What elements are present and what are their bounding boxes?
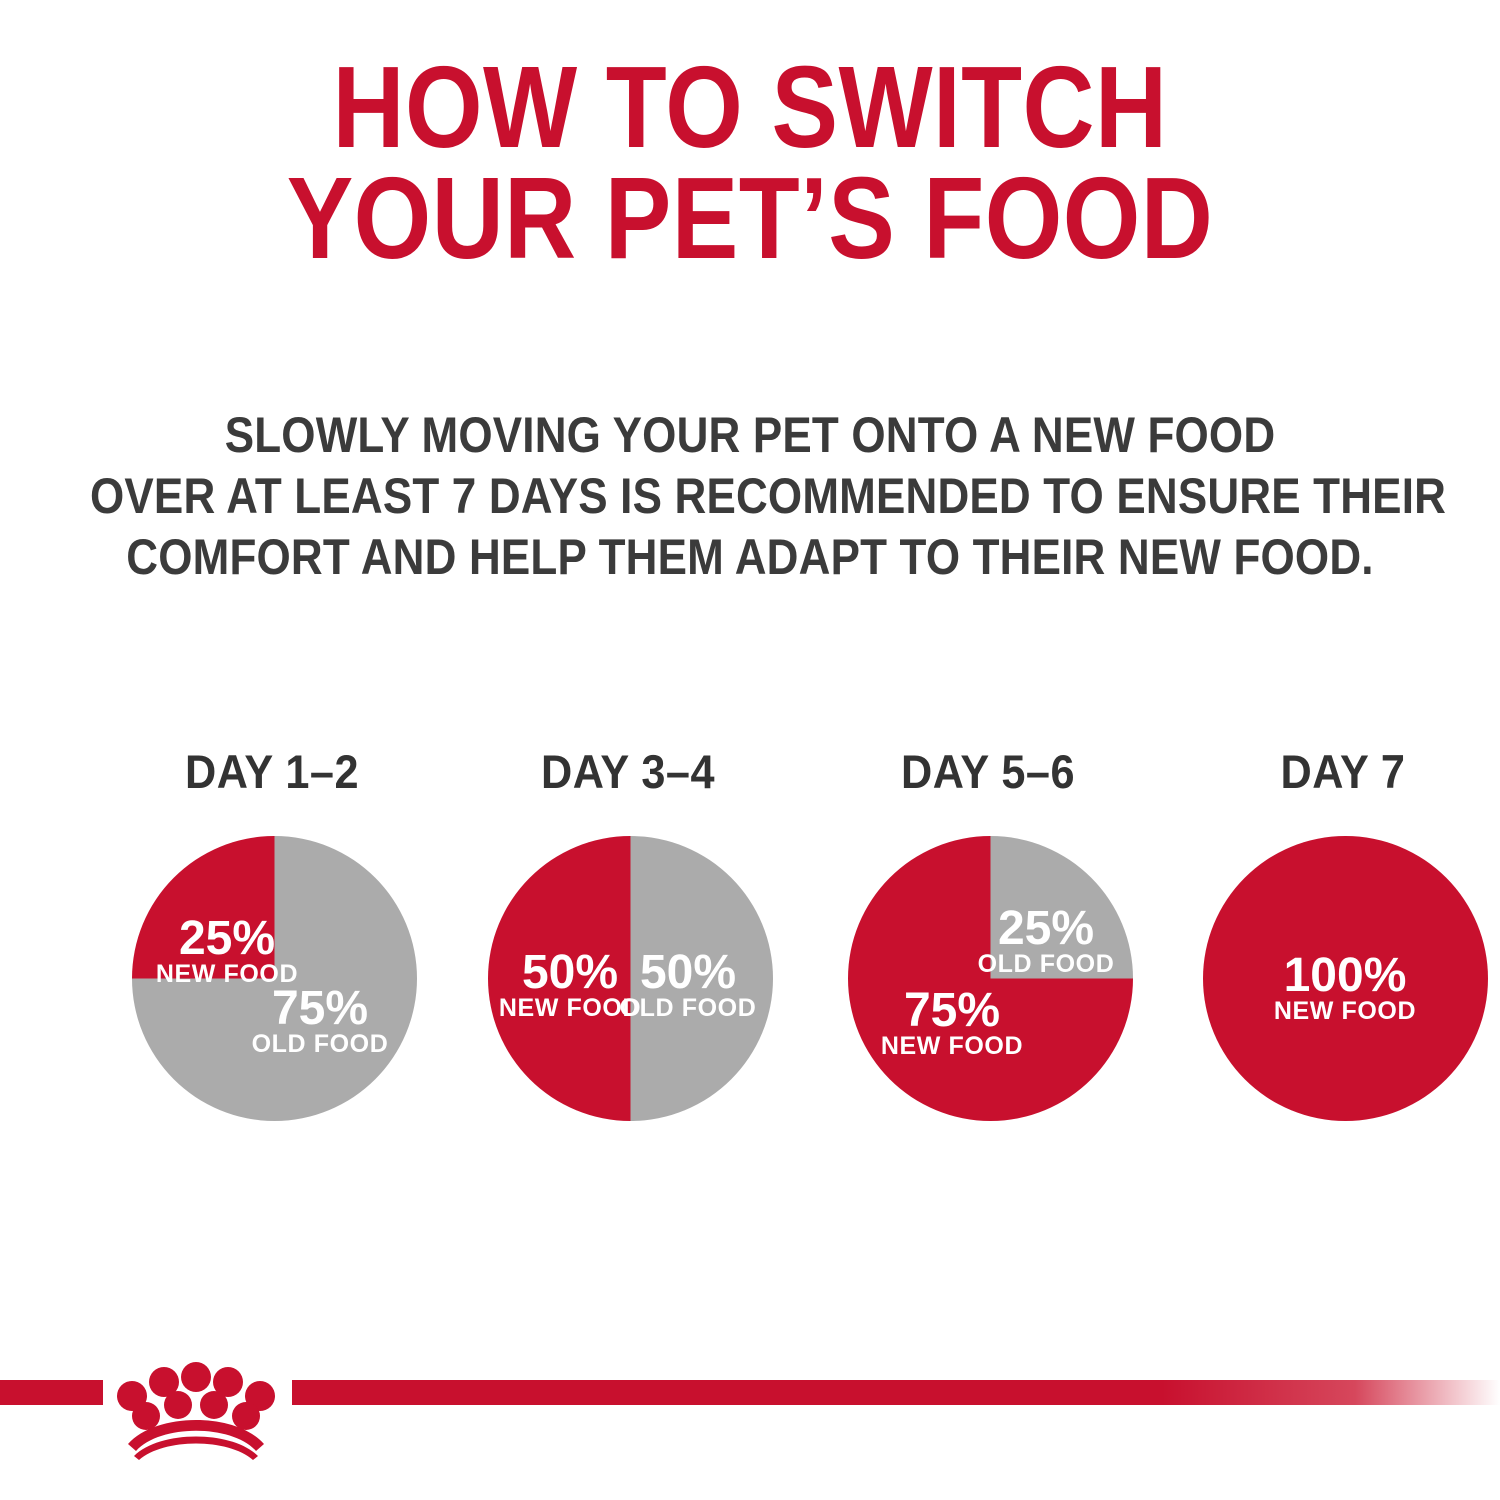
pie-chart: 25%NEW FOOD75%OLD FOOD	[132, 836, 417, 1121]
pie-slice-percentage: 50%	[522, 946, 618, 999]
brand-footer	[0, 1352, 1500, 1462]
pie-chart-day-label: DAY 5–6	[850, 748, 1126, 795]
pie-slice-percentage: 25%	[998, 902, 1094, 955]
pie-chart-cell: DAY 5–625%OLD FOOD75%NEW FOOD	[838, 748, 1138, 1148]
pie-slice-percentage: 50%	[640, 946, 736, 999]
page-title: HOW TO SWITCH YOUR PET’S FOOD	[105, 52, 1395, 275]
page-title-line-2: YOUR PET’S FOOD	[105, 163, 1395, 274]
page-subtitle-line-2: OVER AT LEAST 7 DAYS IS RECOMMENDED TO E…	[90, 466, 1410, 527]
pie-slice-category: NEW FOOD	[881, 1032, 1023, 1060]
pie-chart-cell: DAY 1–225%NEW FOOD75%OLD FOOD	[122, 748, 422, 1148]
page-subtitle-line-3: COMFORT AND HELP THEM ADAPT TO THEIR NEW…	[90, 527, 1410, 588]
pie-chart-day-label: DAY 1–2	[134, 748, 410, 795]
pie-slice-category: NEW FOOD	[1274, 997, 1416, 1025]
pie-chart: 50%NEW FOOD50%OLD FOOD	[488, 836, 773, 1121]
pie-chart-day-label: DAY 3–4	[490, 748, 766, 795]
pie-chart-row: DAY 1–225%NEW FOOD75%OLD FOODDAY 3–450%N…	[0, 748, 1500, 1148]
pie-chart: 25%OLD FOOD75%NEW FOOD	[848, 836, 1133, 1121]
footer-rule-left	[0, 1380, 103, 1405]
footer-rule-right	[292, 1380, 1500, 1405]
royal-canin-crown-icon	[108, 1352, 284, 1460]
pie-chart: 100%NEW FOOD	[1203, 836, 1488, 1121]
pie-slice-category: OLD FOOD	[252, 1030, 389, 1058]
pie-chart-cell: DAY 7100%NEW FOOD	[1193, 748, 1493, 1148]
pie-chart-day-label: DAY 7	[1205, 748, 1481, 795]
pie-slice-percentage: 25%	[179, 912, 275, 965]
page-subtitle-line-1: SLOWLY MOVING YOUR PET ONTO A NEW FOOD	[90, 405, 1410, 466]
page-title-line-1: HOW TO SWITCH	[105, 52, 1395, 163]
pie-slice-category: OLD FOOD	[978, 950, 1115, 978]
pie-slice-percentage: 75%	[904, 984, 1000, 1037]
pie-slice-category: OLD FOOD	[620, 994, 757, 1022]
page-subtitle: SLOWLY MOVING YOUR PET ONTO A NEW FOOD O…	[90, 405, 1410, 588]
pie-chart-cell: DAY 3–450%NEW FOOD50%OLD FOOD	[478, 748, 778, 1148]
pie-slice-percentage: 75%	[272, 982, 368, 1035]
pie-slice-percentage: 100%	[1284, 949, 1407, 1002]
